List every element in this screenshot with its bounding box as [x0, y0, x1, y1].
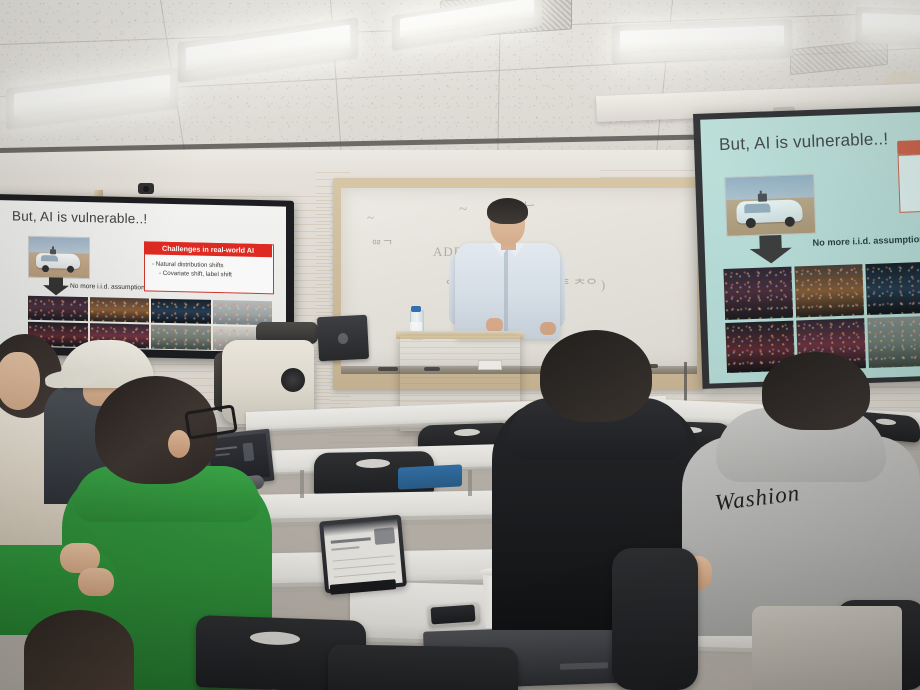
student-foreground-head: [24, 610, 134, 690]
screen-rule: [334, 571, 396, 577]
chair-handle-cutout: [454, 429, 480, 437]
projector-color-cast: [700, 112, 920, 384]
car-wheel: [67, 266, 74, 273]
tv-webcam: [138, 183, 154, 194]
shirt-placket: [504, 248, 508, 336]
whiteboard-note: ~: [459, 202, 467, 219]
podium-label: [478, 360, 502, 370]
desk-leg: [468, 470, 472, 496]
grid-photo: [90, 297, 150, 322]
apple-logo-icon: [338, 333, 348, 344]
challenges-callout: Challenges in real-world AI - Natural di…: [144, 241, 274, 294]
screen-text-line: [331, 537, 371, 543]
screen-rule: [332, 555, 394, 561]
lidar-icon: [50, 249, 56, 254]
screen-rule: [333, 563, 395, 569]
chair-handle-cutout: [876, 418, 896, 426]
grid-photo: [28, 296, 88, 321]
projected-image: But, AI is vulnerable..! No more i.i.d. …: [700, 112, 920, 384]
car-window: [41, 255, 58, 261]
whiteboard-note: ~: [367, 210, 375, 226]
callout-header: Challenges in real-world AI: [144, 241, 272, 257]
presenter-hand: [540, 322, 556, 335]
down-arrow-head: [43, 285, 69, 296]
whiteboard-note: ᄋᄅᄀ: [371, 236, 393, 253]
screen-thumbnail: [374, 527, 395, 545]
slide-title: But, AI is vulnerable..!: [12, 208, 147, 226]
student-black-hair: [540, 330, 652, 422]
student-gray-hair: [762, 352, 870, 430]
screen-text-line: [215, 446, 237, 450]
chair-backrest: [752, 606, 902, 690]
screen-figure: [243, 443, 255, 462]
desk-leg: [300, 470, 304, 498]
lecture-hall-photo: ~ ~ ∥ ᄊᄂ ᄋᄅᄀ ADD ᄋᄂᄉ ᄋᄀ ᄋ ᄉᄀ ᄒᄋ ( ᄂᄃᄐ ᄎᄋ…: [0, 0, 920, 690]
callout-bullet: - Natural distribution shifts: [152, 261, 224, 270]
student-green-hand: [78, 568, 114, 596]
phone-screen[interactable]: [430, 604, 475, 624]
car-wheel: [42, 265, 49, 272]
chair[interactable]: [612, 548, 698, 690]
slide-left: But, AI is vulnerable..! No more i.i.d. …: [0, 200, 286, 353]
whiteboard-marker: [378, 367, 398, 371]
grid-photo: [151, 325, 211, 350]
chair-handle-cutout: [356, 459, 390, 469]
bottle-label: [410, 322, 422, 331]
callout-bullet: - Covariate shift, label shift: [159, 270, 232, 279]
speaker-icon: [281, 368, 305, 392]
autonomous-car-image: [28, 236, 90, 279]
chair-handle-cutout: [250, 631, 300, 646]
slide-caption: No more i.i.d. assumption!: [70, 283, 147, 292]
bottle-cap: [411, 306, 421, 312]
chair[interactable]: [328, 644, 518, 690]
tv-screen: But, AI is vulnerable..! No more i.i.d. …: [0, 200, 286, 353]
grid-photo: [151, 299, 211, 324]
projection-screen: But, AI is vulnerable..! No more i.i.d. …: [693, 106, 920, 389]
screen-text-line: [331, 546, 359, 550]
ceiling-light-panel: [862, 13, 920, 37]
presenter-hand: [486, 318, 503, 332]
wall-tv: But, AI is vulnerable..! No more i.i.d. …: [0, 194, 294, 361]
screen-text-line: [215, 453, 229, 456]
chair-seat[interactable]: [398, 464, 462, 489]
presenter-hair: [487, 198, 528, 224]
